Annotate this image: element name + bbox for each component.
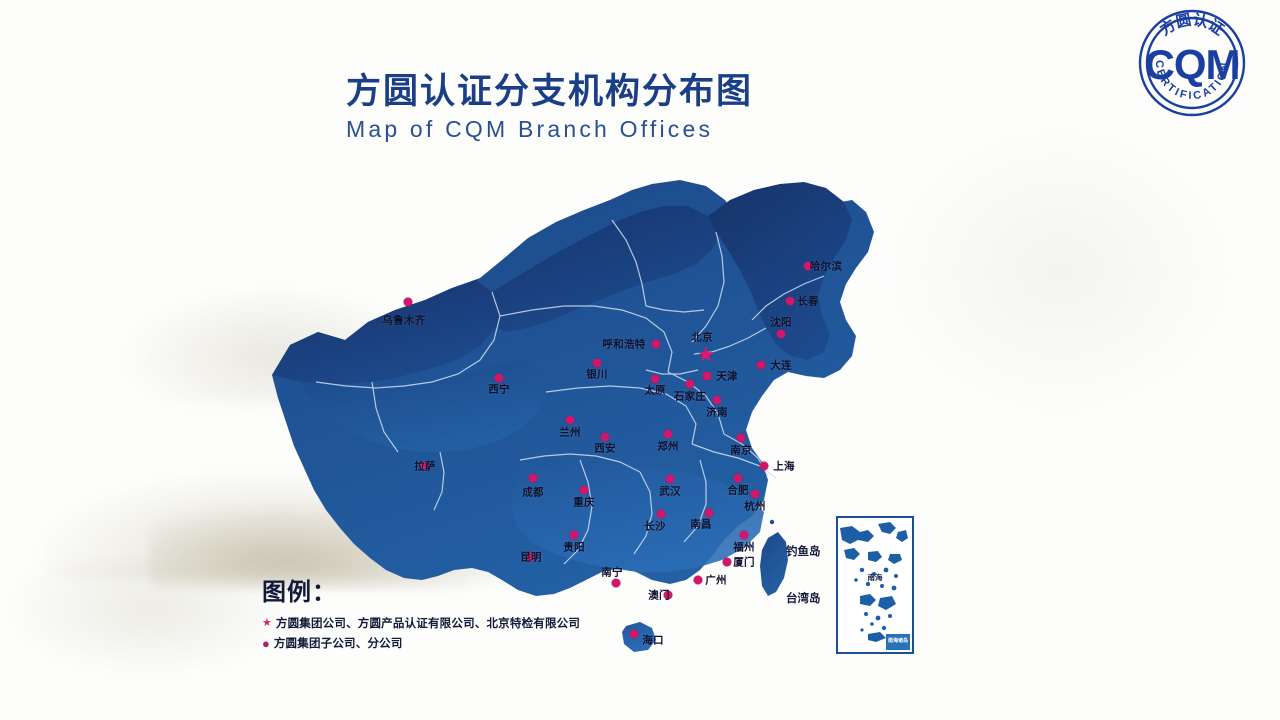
city-label: 哈尔滨 xyxy=(810,259,842,274)
dot-icon: ● xyxy=(262,637,270,650)
city-label: 南京 xyxy=(730,443,752,458)
city-label: 银川 xyxy=(586,367,608,382)
city-marker xyxy=(657,510,666,519)
legend-item-subsidiary: ● 方圆集团子公司、分公司 xyxy=(262,635,682,651)
city-marker xyxy=(529,474,538,483)
city-marker xyxy=(786,297,795,306)
city-label: 济南 xyxy=(706,405,728,420)
city-marker xyxy=(404,298,413,307)
city-marker xyxy=(713,396,722,405)
islet-diaoyu xyxy=(770,520,774,524)
logo-ring-cn: 方圆认证 xyxy=(1157,11,1228,39)
city-marker xyxy=(740,531,749,540)
city-label: 大连 xyxy=(770,358,792,373)
city-label: 贵阳 xyxy=(563,540,585,555)
title-english: Map of CQM Branch Offices xyxy=(346,116,906,143)
city-label: 拉萨 xyxy=(414,459,436,474)
city-label: 合肥 xyxy=(727,483,749,498)
city-label: 兰州 xyxy=(559,425,581,440)
city-label: 乌鲁木齐 xyxy=(382,313,425,328)
city-marker xyxy=(703,372,712,381)
city-marker xyxy=(777,330,786,339)
cqm-logo: 方圆认证 CERTIFICATION CQM xyxy=(1112,6,1272,121)
city-label: 武汉 xyxy=(659,484,681,499)
legend-item-headquarters: ★ 方圆集团公司、方圆产品认证有限公司、北京特检有限公司 xyxy=(262,615,682,631)
city-marker xyxy=(757,361,766,370)
city-label: 沈阳 xyxy=(770,315,792,330)
city-label: 西宁 xyxy=(488,382,510,397)
city-label: 长沙 xyxy=(644,519,666,534)
city-label: 长春 xyxy=(797,294,819,309)
star-icon: ★ xyxy=(262,618,272,629)
legend: 图例： ★ 方圆集团公司、方圆产品认证有限公司、北京特检有限公司 ● 方圆集团子… xyxy=(262,572,682,651)
city-marker xyxy=(566,416,575,425)
svg-text:方圆认证: 方圆认证 xyxy=(1157,11,1228,39)
island-label: 钓鱼岛 xyxy=(786,543,821,559)
city-marker xyxy=(760,462,769,471)
legend-item-label: 方圆集团公司、方圆产品认证有限公司、北京特检有限公司 xyxy=(276,615,580,631)
slide-canvas: 方圆认证分支机构分布图 Map of CQM Branch Offices 方圆… xyxy=(0,0,1280,720)
city-label: 昆明 xyxy=(520,550,542,565)
city-label: 石家庄 xyxy=(674,389,706,404)
inset-sea-label: 南海 xyxy=(868,572,883,582)
city-label: 上海 xyxy=(773,459,795,474)
inset-corner-label: 南海诸岛 xyxy=(888,637,908,644)
city-marker xyxy=(686,380,695,389)
city-label: 郑州 xyxy=(657,439,679,454)
city-label: 重庆 xyxy=(573,495,595,510)
legend-title: 图例： xyxy=(262,572,682,607)
city-label-beijing: 北京 xyxy=(691,330,713,345)
logo-wordmark: CQM xyxy=(1145,41,1240,88)
city-label: 太原 xyxy=(644,383,666,398)
city-marker xyxy=(737,434,746,443)
city-label: 天津 xyxy=(716,369,738,384)
city-marker xyxy=(666,475,675,484)
city-label: 杭州 xyxy=(744,499,766,514)
island-taiwan xyxy=(760,532,788,596)
city-label: 西安 xyxy=(594,441,616,456)
city-label: 厦门 xyxy=(733,555,755,570)
city-marker xyxy=(664,430,673,439)
city-marker xyxy=(734,474,743,483)
city-marker xyxy=(723,558,732,567)
city-label: 南昌 xyxy=(690,517,712,532)
city-label: 成都 xyxy=(522,485,544,500)
city-marker xyxy=(570,531,579,540)
hq-star-icon: ★ xyxy=(697,345,716,366)
city-marker xyxy=(580,486,589,495)
city-label: 广州 xyxy=(705,573,727,588)
city-label: 呼和浩特 xyxy=(602,337,645,352)
title-chinese: 方圆认证分支机构分布图 xyxy=(346,72,906,111)
city-label: 福州 xyxy=(733,540,755,555)
city-marker xyxy=(751,490,760,499)
legend-item-label: 方圆集团子公司、分公司 xyxy=(274,635,403,651)
page-title: 方圆认证分支机构分布图 Map of CQM Branch Offices xyxy=(346,72,906,143)
south-china-sea-inset: 南海 南海诸岛 xyxy=(836,516,914,654)
city-marker xyxy=(652,340,661,349)
island-label: 台湾岛 xyxy=(786,590,821,606)
city-marker xyxy=(694,576,703,585)
